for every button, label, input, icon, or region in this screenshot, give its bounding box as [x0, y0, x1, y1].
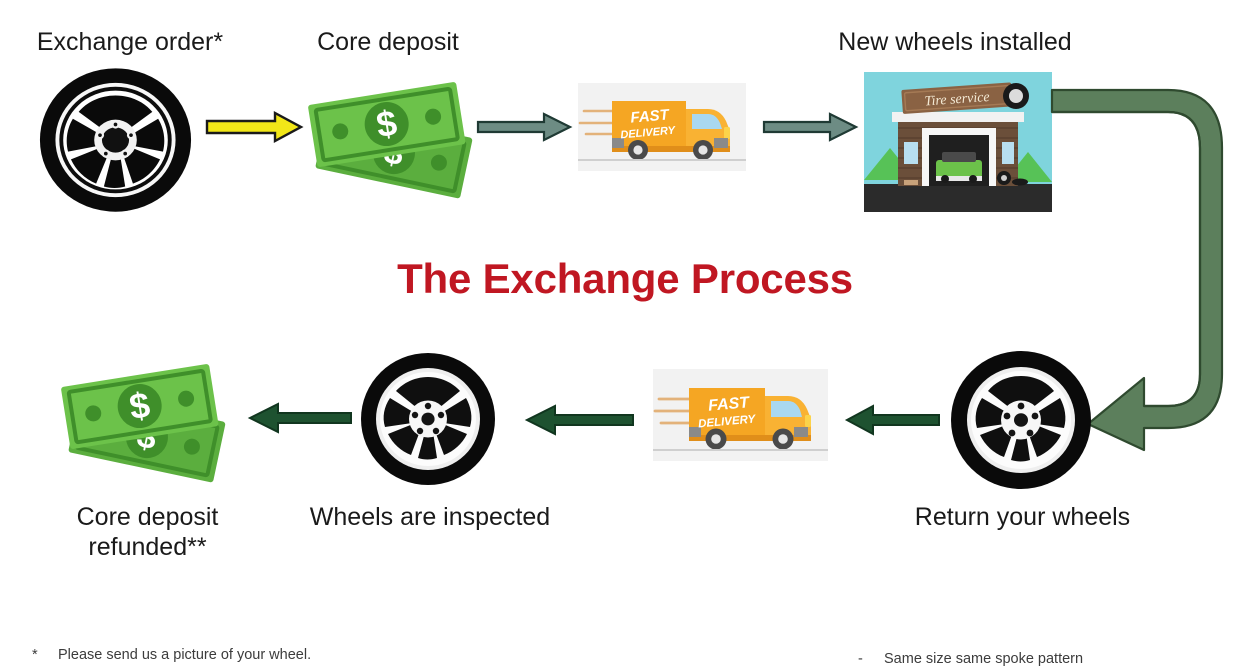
label-wheels-inspected: Wheels are inspected: [300, 503, 560, 533]
footnotes-left: * Please send us a picture of your wheel…: [32, 592, 311, 666]
black-alloy-wheel-icon: [38, 66, 193, 214]
arrow-order-to-deposit: [205, 110, 305, 144]
exchange-process-diagram: The Exchange Process Exchange order*: [0, 0, 1250, 666]
footnotes-right: - Same size same spoke pattern - No chro…: [858, 596, 1148, 666]
footnote-text: Please send us a picture of your wheel.: [58, 643, 311, 666]
fast-delivery-truck-icon-inbound: FAST DELIVERY: [653, 369, 828, 461]
arrow-inspected-to-refund: [248, 400, 353, 436]
label-core-deposit: Core deposit: [288, 28, 488, 58]
bullet-row: - Same size same spoke pattern: [858, 647, 1148, 666]
fast-delivery-truck-icon-outbound: FAST DELIVERY: [578, 83, 746, 171]
money-bills-icon: $ $: [305, 70, 483, 200]
money-bills-icon-refund: $ $: [58, 352, 236, 484]
label-new-wheels-installed: New wheels installed: [800, 28, 1110, 58]
arrow-return-to-truck: [845, 402, 941, 438]
chrome-alloy-wheel-icon-return: [950, 350, 1092, 490]
chrome-alloy-wheel-icon-inspected: [360, 352, 497, 487]
label-core-deposit-refunded: Core deposit refunded**: [30, 503, 265, 562]
footnote-row: * Please send us a picture of your wheel…: [32, 643, 311, 666]
label-exchange-order: Exchange order*: [10, 28, 250, 58]
bullet-marker: -: [858, 647, 884, 666]
footnote-marker: *: [32, 643, 58, 666]
truck-line1: FAST: [630, 106, 672, 126]
arrow-truck-to-shop: [762, 110, 860, 144]
tire-service-shop-icon: Tire service: [864, 72, 1052, 212]
arrow-deposit-to-truck: [476, 110, 574, 144]
label-return-your-wheels: Return your wheels: [900, 503, 1145, 533]
arrow-truck-to-inspected: [525, 402, 635, 438]
bullet-text: Same size same spoke pattern: [884, 647, 1083, 666]
